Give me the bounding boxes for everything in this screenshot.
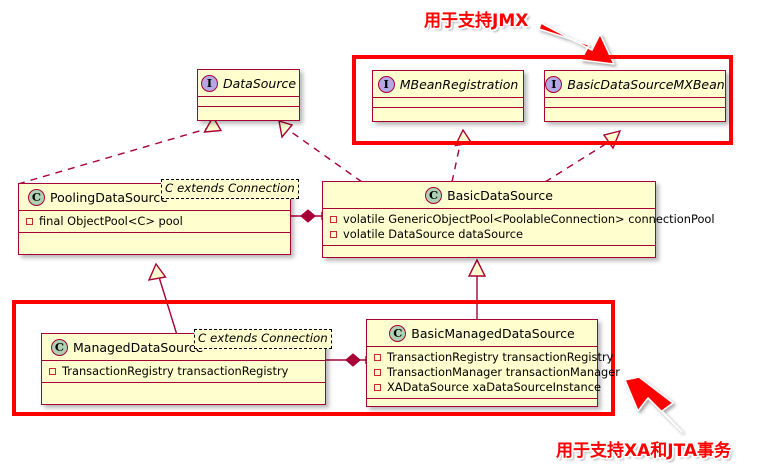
- class-header-basicmanageddatasource: C BasicManagedDataSource: [367, 320, 597, 346]
- class-header-mbeanregistration: I MBeanRegistration: [373, 71, 523, 97]
- attribute-row: XADataSource xaDataSourceInstance: [367, 380, 597, 395]
- methods-section: [198, 107, 299, 116]
- methods-section: [373, 108, 523, 117]
- attributes-section: [545, 98, 725, 107]
- attribute-label: volatile GenericObjectPool<PoolableConne…: [343, 212, 715, 227]
- interface-icon: I: [545, 76, 562, 93]
- visibility-marker-icon: [330, 231, 337, 238]
- generic-template-label: C extends Connection: [198, 331, 328, 345]
- class-icon: C: [28, 189, 45, 206]
- class-icon: C: [389, 325, 406, 342]
- attribute-label: final ObjectPool<C> pool: [39, 214, 183, 229]
- methods-section: [19, 233, 290, 242]
- relation-basicdatasource-implements-datasource: [279, 121, 362, 182]
- class-box-mbeanregistration[interactable]: I MBeanRegistration: [372, 70, 524, 122]
- attribute-row: final ObjectPool<C> pool: [19, 214, 290, 229]
- class-box-basicmanageddatasource[interactable]: C BasicManagedDataSource TransactionRegi…: [366, 319, 598, 407]
- visibility-marker-icon: [374, 369, 381, 376]
- class-title: MBeanRegistration: [400, 77, 519, 92]
- class-box-basicdatasourcemxbean[interactable]: I BasicDataSourceMXBean: [544, 70, 726, 122]
- visibility-marker-icon: [374, 384, 381, 391]
- class-title: PoolingDataSource: [50, 190, 168, 205]
- attribute-row: volatile DataSource dataSource: [323, 227, 655, 242]
- methods-section: [42, 383, 325, 392]
- interface-icon: I: [378, 76, 395, 93]
- visibility-marker-icon: [49, 368, 56, 375]
- class-header-datasource: I DataSource: [198, 70, 299, 96]
- relation-basicdatasource-composition-poolingdatasource: [291, 210, 322, 222]
- attribute-label: TransactionRegistry transactionRegistry: [62, 364, 288, 379]
- visibility-marker-icon: [374, 354, 381, 361]
- class-title: ManagedDataSource: [73, 340, 203, 355]
- attributes-section: volatile GenericObjectPool<PoolableConne…: [323, 209, 655, 245]
- class-box-basicdatasource[interactable]: C BasicDataSource volatile GenericObject…: [322, 181, 656, 258]
- methods-section: [545, 108, 725, 117]
- attribute-row: volatile GenericObjectPool<PoolableConne…: [323, 212, 655, 227]
- interface-icon: I: [201, 75, 218, 92]
- generic-template-manageddatasource: C extends Connection: [194, 329, 332, 349]
- class-title: BasicDataSource: [447, 188, 553, 203]
- attribute-label: volatile DataSource dataSource: [343, 227, 523, 242]
- attribute-row: TransactionManager transactionManager: [367, 365, 597, 380]
- attribute-label: TransactionRegistry transactionRegistry: [387, 350, 613, 365]
- annotation-text: 用于支持XA和JTA事务: [556, 441, 731, 461]
- jmx-annotation-label: 用于支持JMX: [424, 6, 528, 31]
- methods-section: [323, 246, 655, 255]
- class-title: DataSource: [223, 76, 296, 91]
- class-box-datasource[interactable]: I DataSource: [197, 69, 300, 121]
- attributes-section: TransactionRegistry transactionRegistry …: [367, 347, 597, 398]
- methods-section: [367, 399, 597, 408]
- generic-template-label: C extends Connection: [165, 181, 295, 195]
- attribute-label: TransactionManager transactionManager: [387, 365, 620, 380]
- class-header-basicdatasource: C BasicDataSource: [323, 182, 655, 208]
- relation-poolingdatasource-implements-datasource: [18, 117, 221, 184]
- attributes-section: final ObjectPool<C> pool: [19, 211, 290, 232]
- xa-jta-annotation-arrow: [625, 377, 682, 432]
- class-title: BasicDataSourceMXBean: [567, 77, 724, 92]
- class-icon: C: [51, 339, 68, 356]
- attributes-section: [198, 97, 299, 106]
- class-icon: C: [425, 187, 442, 204]
- attribute-row: TransactionRegistry transactionRegistry: [42, 364, 325, 379]
- attributes-section: TransactionRegistry transactionRegistry: [42, 361, 325, 382]
- visibility-marker-icon: [26, 218, 33, 225]
- uml-diagram-canvas: I DataSource I MBeanRegistration I Basic…: [0, 0, 775, 472]
- generic-template-poolingdatasource: C extends Connection: [161, 179, 299, 199]
- attributes-section: [373, 98, 523, 107]
- class-header-basicdatasourcemxbean: I BasicDataSourceMXBean: [545, 71, 725, 97]
- attribute-label: XADataSource xaDataSourceInstance: [387, 380, 601, 395]
- attribute-row: TransactionRegistry transactionRegistry: [367, 350, 597, 365]
- xa-jta-annotation-label: 用于支持XA和JTA事务: [556, 436, 731, 461]
- visibility-marker-icon: [330, 216, 337, 223]
- annotation-text: 用于支持JMX: [424, 11, 528, 31]
- class-title: BasicManagedDataSource: [411, 326, 574, 341]
